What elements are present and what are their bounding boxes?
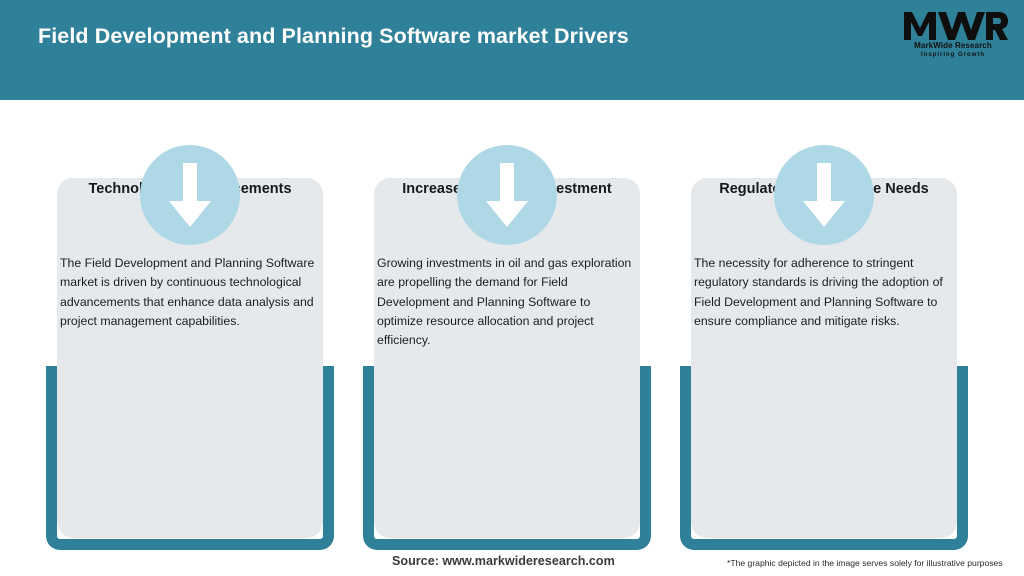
drivers-card-row: Technological Advancements The Field Dev…	[0, 100, 1024, 540]
card-body: The necessity for adherence to stringent…	[694, 254, 956, 331]
source-label: Source: www.markwideresearch.com	[392, 554, 615, 568]
logo-tagline: Inspiring Growth	[898, 51, 1008, 59]
card-body: The Field Development and Planning Softw…	[60, 254, 322, 331]
driver-card-3: Regulatory Compliance Needs The necessit…	[674, 100, 974, 540]
down-arrow-glyph	[166, 163, 214, 229]
down-arrow-icon	[140, 145, 240, 245]
disclaimer-note: *The graphic depicted in the image serve…	[727, 558, 1003, 568]
driver-card-1: Technological Advancements The Field Dev…	[40, 100, 340, 540]
header-band: Field Development and Planning Software …	[0, 0, 1024, 100]
card-body: Growing investments in oil and gas explo…	[377, 254, 639, 350]
mwr-logo-icon	[898, 8, 1008, 42]
down-arrow-glyph	[800, 163, 848, 229]
brand-logo: MarkWide Research Inspiring Growth	[898, 8, 1008, 66]
driver-card-2: Increased Industry Investment Growing in…	[357, 100, 657, 540]
logo-name: MarkWide Research	[898, 41, 1008, 51]
down-arrow-icon	[774, 145, 874, 245]
down-arrow-icon	[457, 145, 557, 245]
down-arrow-glyph	[483, 163, 531, 229]
page-title: Field Development and Planning Software …	[38, 24, 629, 49]
